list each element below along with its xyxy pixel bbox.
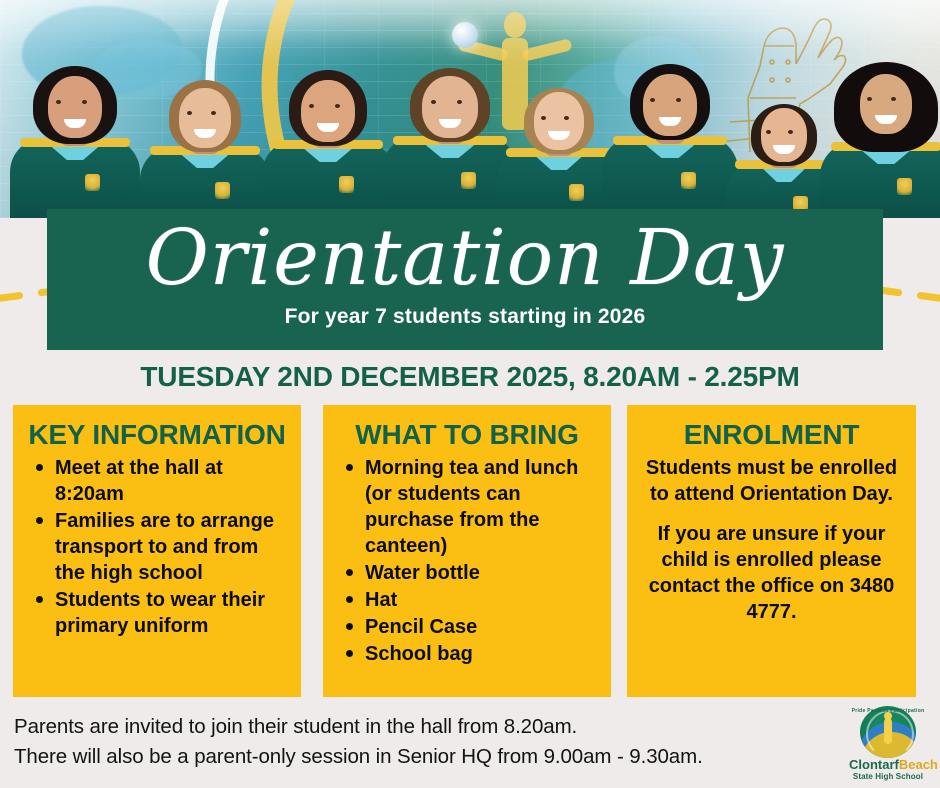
what-to-bring-list: Morning tea and lunch (or students can p… xyxy=(333,455,601,667)
list-item: Morning tea and lunch (or students can p… xyxy=(363,455,597,559)
list-item: Water bottle xyxy=(363,560,597,586)
card-what-to-bring: WHAT TO BRING Morning tea and lunch (or … xyxy=(323,405,611,697)
info-cards: KEY INFORMATION Meet at the hall at 8:20… xyxy=(0,405,940,697)
logo-subtitle: State High School xyxy=(849,772,927,781)
key-information-list: Meet at the hall at 8:20am Families are … xyxy=(23,455,291,639)
orientation-day-poster: Orientation Day For year 7 students star… xyxy=(0,0,940,788)
student xyxy=(262,78,394,218)
logo-school-name: ClontarfBeach xyxy=(849,758,927,772)
poster-subtitle: For year 7 students starting in 2026 xyxy=(285,305,646,329)
card-key-information: KEY INFORMATION Meet at the hall at 8:20… xyxy=(13,405,301,697)
card-title: WHAT TO BRING xyxy=(333,419,601,451)
logo-name-part1: Clontarf xyxy=(849,757,899,772)
mural-orb-icon xyxy=(452,22,478,48)
card-title: ENROLMENT xyxy=(637,419,906,451)
header-photo xyxy=(0,0,940,218)
school-logo: Pride Passion Participation ClontarfBeac… xyxy=(849,706,927,782)
logo-motto: Pride Passion Participation xyxy=(849,708,927,714)
student xyxy=(820,66,940,218)
logo-name-part2: Beach xyxy=(899,757,938,772)
footer-line-2: There will also be a parent-only session… xyxy=(14,742,844,772)
footer-note: Parents are invited to join their studen… xyxy=(14,712,844,772)
student xyxy=(140,83,270,218)
list-item: Students to wear their primary uniform xyxy=(53,587,287,639)
card-title: KEY INFORMATION xyxy=(23,419,291,451)
card-enrolment: ENROLMENT Students must be enrolled to a… xyxy=(627,405,916,697)
footer-line-1: Parents are invited to join their studen… xyxy=(14,712,844,742)
student-group-photo xyxy=(0,68,940,218)
list-item: Meet at the hall at 8:20am xyxy=(53,455,287,507)
enrolment-paragraph: Students must be enrolled to attend Orie… xyxy=(637,455,906,507)
student xyxy=(602,70,738,218)
list-item: Pencil Case xyxy=(363,614,597,640)
list-item: Hat xyxy=(363,587,597,613)
poster-title: Orientation Day xyxy=(146,211,785,307)
title-banner: Orientation Day For year 7 students star… xyxy=(47,209,883,350)
list-item: School bag xyxy=(363,641,597,667)
list-item: Families are to arrange transport to and… xyxy=(53,508,287,586)
student xyxy=(10,78,140,218)
date-time-line: TUESDAY 2ND DECEMBER 2025, 8.20AM - 2.25… xyxy=(0,361,940,393)
enrolment-contact-paragraph: If you are unsure if your child is enrol… xyxy=(637,521,906,625)
